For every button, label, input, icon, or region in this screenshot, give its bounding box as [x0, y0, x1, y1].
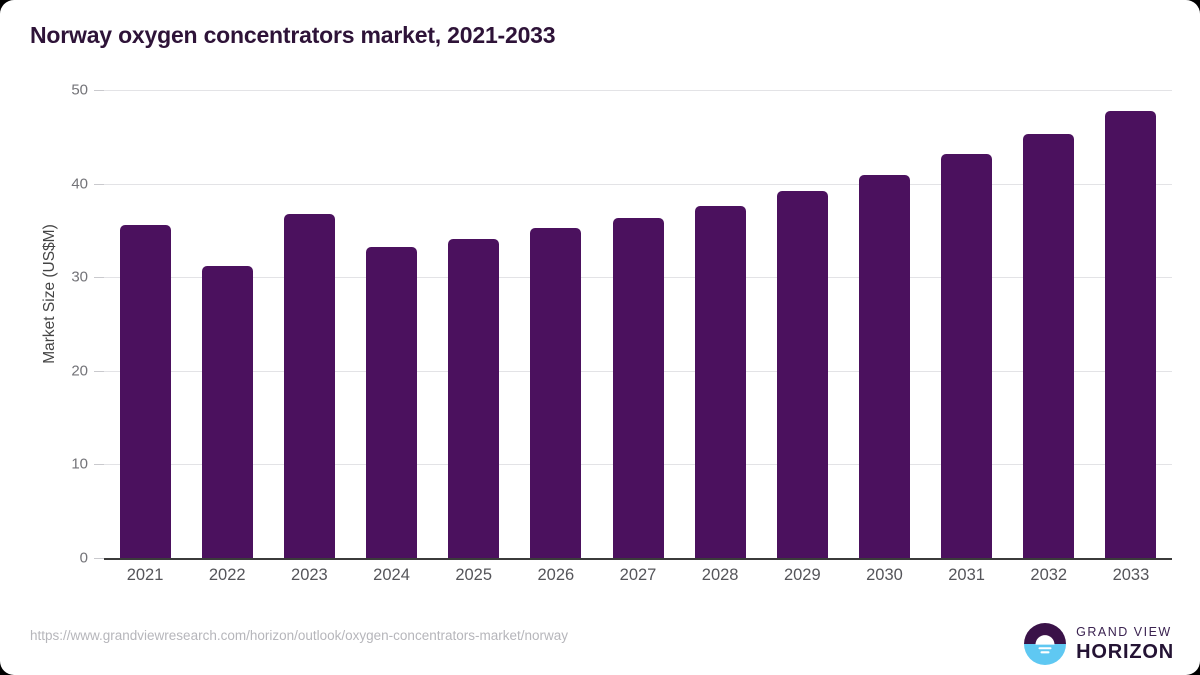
- logo-wordmark: GRAND VIEW HORIZON: [1076, 626, 1174, 662]
- bar[interactable]: [284, 214, 335, 558]
- bar[interactable]: [859, 175, 910, 558]
- x-tick-label: 2024: [347, 566, 437, 585]
- bar[interactable]: [1105, 111, 1156, 558]
- y-tick-mark: [94, 277, 104, 278]
- y-tick-mark: [94, 371, 104, 372]
- chart-plot-area: Market Size (US$M) 01020304050 202120222…: [0, 0, 1200, 675]
- bar[interactable]: [448, 239, 499, 558]
- x-tick-label: 2025: [429, 566, 519, 585]
- x-tick-label: 2029: [757, 566, 847, 585]
- bar[interactable]: [530, 228, 581, 558]
- x-tick-label: 2031: [922, 566, 1012, 585]
- y-tick-mark: [94, 184, 104, 185]
- bar[interactable]: [202, 266, 253, 558]
- y-tick-mark: [94, 558, 104, 559]
- chart-card: Norway oxygen concentrators market, 2021…: [0, 0, 1200, 675]
- x-axis-line: [104, 558, 1172, 560]
- brand-logo[interactable]: GRAND VIEW HORIZON: [1023, 620, 1174, 668]
- source-url[interactable]: https://www.grandviewresearch.com/horizo…: [30, 628, 568, 643]
- gridline: [104, 184, 1172, 185]
- bar[interactable]: [613, 218, 664, 558]
- y-tick-label: 10: [16, 456, 88, 473]
- bar[interactable]: [777, 191, 828, 558]
- x-tick-label: 2032: [1004, 566, 1094, 585]
- y-tick-label: 30: [16, 269, 88, 286]
- bar[interactable]: [1023, 134, 1074, 558]
- y-tick-label: 50: [16, 82, 88, 99]
- x-tick-label: 2023: [264, 566, 354, 585]
- y-tick-label: 0: [16, 550, 88, 567]
- x-tick-label: 2026: [511, 566, 601, 585]
- y-tick-label: 40: [16, 175, 88, 192]
- x-tick-label: 2033: [1086, 566, 1176, 585]
- x-tick-label: 2021: [100, 566, 190, 585]
- gridline: [104, 90, 1172, 91]
- x-tick-label: 2022: [182, 566, 272, 585]
- y-tick-mark: [94, 90, 104, 91]
- x-tick-label: 2030: [839, 566, 929, 585]
- logo-line-2: HORIZON: [1076, 642, 1174, 662]
- y-tick-mark: [94, 464, 104, 465]
- x-tick-label: 2027: [593, 566, 683, 585]
- bar[interactable]: [120, 225, 171, 558]
- bar[interactable]: [941, 154, 992, 558]
- x-tick-label: 2028: [675, 566, 765, 585]
- bar[interactable]: [366, 247, 417, 558]
- horizon-logo-icon: [1023, 622, 1067, 666]
- logo-line-1: GRAND VIEW: [1076, 626, 1174, 639]
- bar[interactable]: [695, 206, 746, 558]
- y-tick-label: 20: [16, 362, 88, 379]
